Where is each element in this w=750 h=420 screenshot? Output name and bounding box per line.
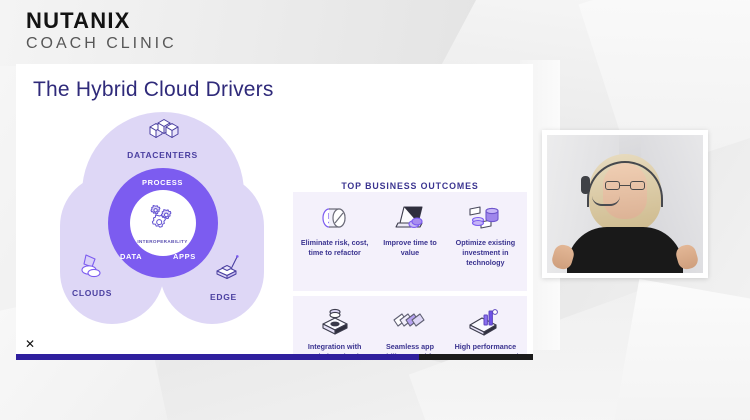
outcome-card: Optimize existing investment in technolo… [448,201,523,269]
coins-stack-icon [317,201,353,235]
glasses-icon [605,181,645,190]
webcam-video [547,135,703,273]
diagram-label-clouds: CLOUDS [72,288,112,298]
outcome-card: Improve time to value [372,201,447,258]
nutanix-logo: NUTANIX COACH CLINIC [26,10,177,52]
outcome-card-text: Seamless app mobility to and from cloud [372,342,447,354]
outcome-card-text: Eliminate risk, cost, time to refactor [297,238,372,258]
business-outcomes-heading: TOP BUSINESS OUTCOMES [293,181,527,191]
glasses-lens-right [630,181,645,190]
database-transfer-icon [466,201,504,235]
glasses-bridge [620,185,630,186]
gears-icon [147,204,179,237]
headset-earcup [581,176,590,194]
presenter-torso [567,227,683,273]
webcam-panel[interactable] [542,130,708,278]
diagram-label-datacenters: DATACENTERS [127,150,198,160]
progress-bar-fill [16,354,419,360]
cloud-icon [80,252,108,285]
edge-device-icon [212,254,242,287]
outcome-card-text: High performance access to apps and serv… [448,342,523,354]
laptop-coin-icon [392,201,428,235]
tech-outcomes-panel: Integration with existing cloud deployme… [293,296,527,354]
glasses-lens-left [605,181,620,190]
outcome-card: High performance access to apps and serv… [448,305,523,354]
slide-canvas: The Hybrid Cloud Drivers [16,64,533,354]
outcome-card-text: Optimize existing investment in technolo… [448,238,523,269]
outcome-card-text: Improve time to value [372,238,447,258]
integration-puck-icon [317,305,353,339]
progress-bar-track[interactable] [16,354,533,360]
diagram-label-apps: APPS [173,252,196,261]
outcome-card: Eliminate risk, cost, time to refactor [297,201,372,258]
performance-server-icon [466,305,504,339]
app-cards-icon [390,305,430,339]
servers-icon [146,117,180,152]
diagram-label-edge: EDGE [210,292,237,302]
logo-subtitle: COACH CLINIC [26,36,177,52]
business-outcomes-panel: Eliminate risk, cost, time to refactor [293,192,527,291]
outcome-card: Integration with existing cloud deployme… [297,305,372,354]
slide-title: The Hybrid Cloud Drivers [33,78,274,102]
close-icon[interactable]: ✕ [22,336,38,352]
diagram-label-data: DATA [120,252,142,261]
hybrid-cloud-diagram: DATACENTERS CLOUDS EDGE PROCESS DATA APP… [60,112,265,327]
presentation-screen: NUTANIX COACH CLINIC The Hybrid Cloud Dr… [0,0,750,420]
diagram-label-interoperability: INTEROPERABILITY [137,239,187,244]
diagram-label-process: PROCESS [142,178,183,187]
logo-wordmark: NUTANIX [26,10,177,32]
outcome-card-text: Integration with existing cloud deployme… [297,342,372,354]
outcome-card: Seamless app mobility to and from cloud [372,305,447,354]
